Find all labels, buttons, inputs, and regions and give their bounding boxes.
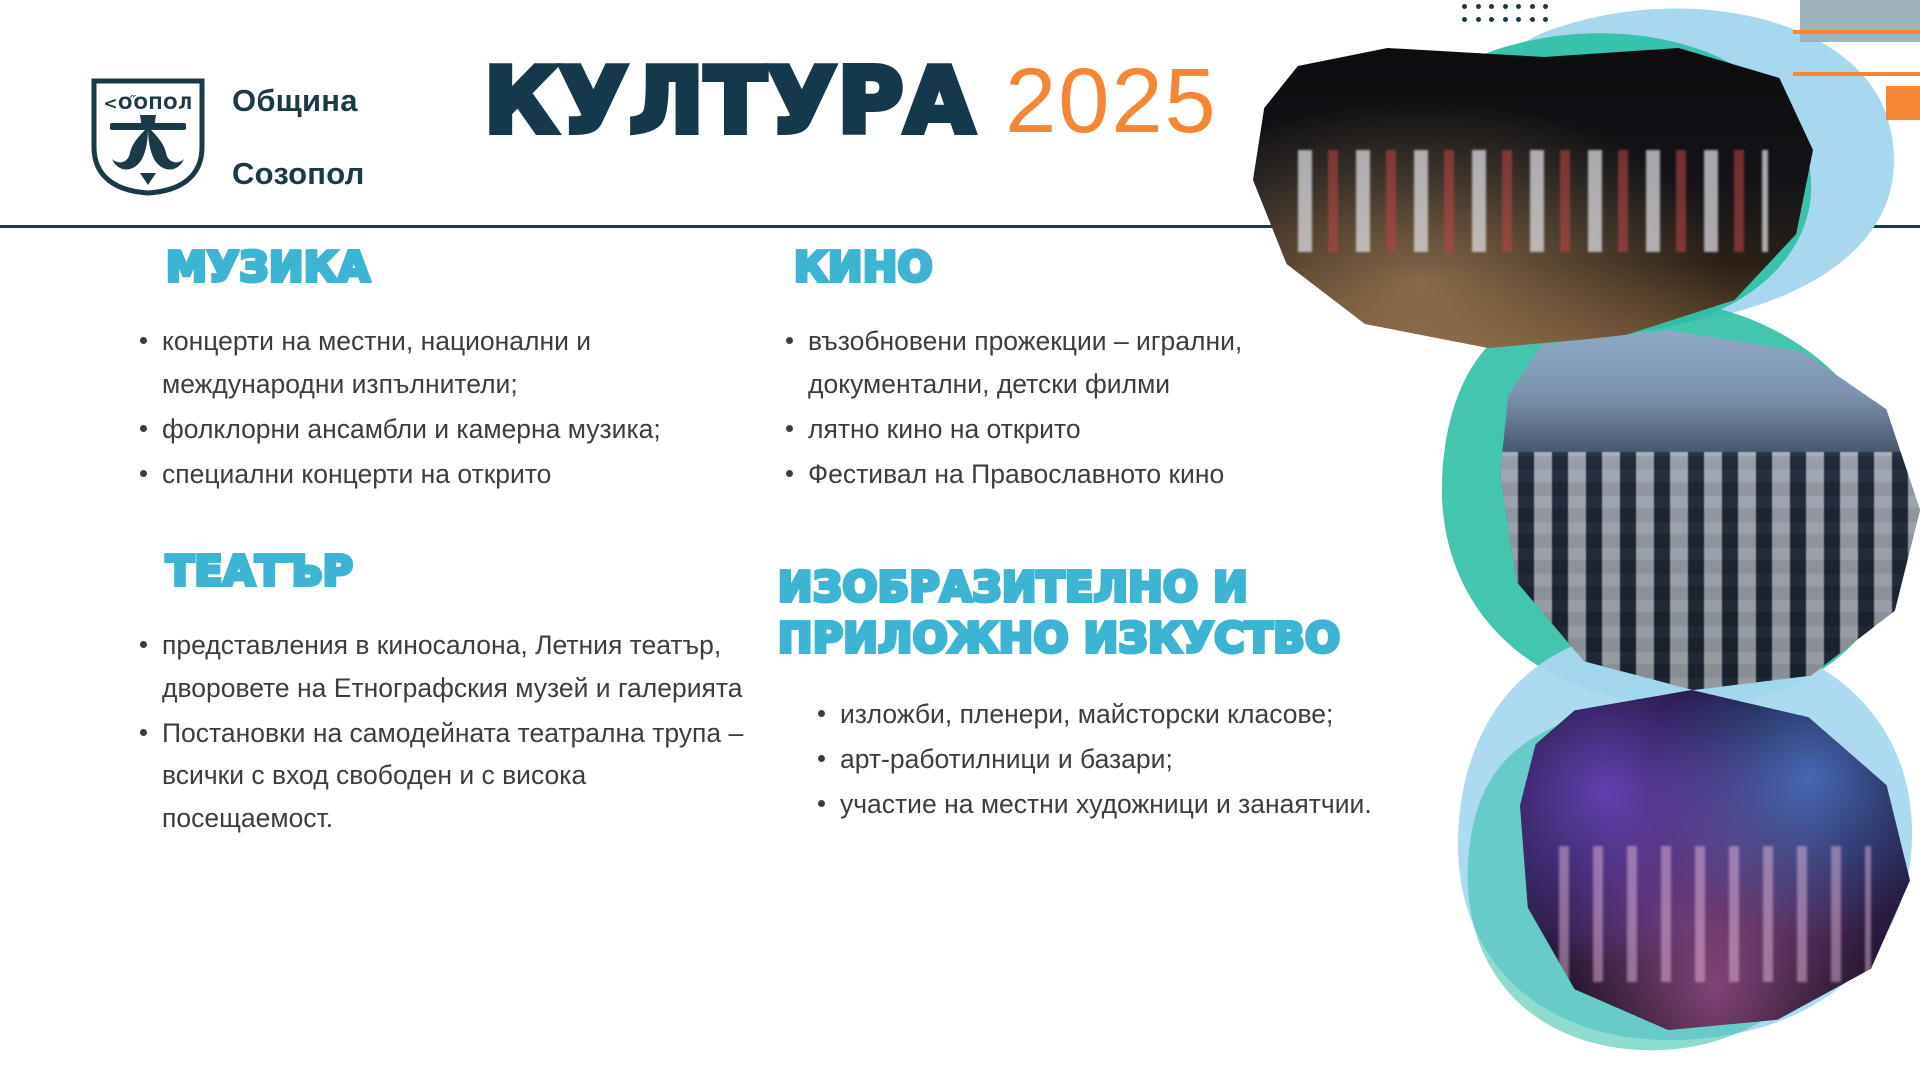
municipality-name: Община Созопол (232, 46, 364, 229)
svg-text:<O֞OПOЛ: <O֞OПOЛ (103, 94, 192, 114)
dot-grid-decoration (1462, 4, 1554, 26)
dot (1462, 4, 1467, 9)
slide-root: <O֞OПOЛ Община Созопол КУЛТУРА 2025 (0, 0, 1920, 1080)
photo-outdoor-audience (1500, 330, 1920, 690)
list-item: фолклорни ансамбли и камерна музика; (132, 408, 752, 451)
list-item: представления в киносалона, Летния театъ… (132, 624, 752, 710)
section-title-theatre: ТЕАТЪР (166, 546, 752, 596)
orange-outline-decoration (1793, 30, 1920, 76)
bullet-list-music: концерти на местни, национални и междуна… (132, 320, 752, 496)
dot (1503, 4, 1508, 9)
page-title: КУЛТУРА 2025 (484, 55, 1218, 147)
list-item: Фестивал на Православното кино (778, 453, 1418, 496)
bullet-list-cinema: възобновени прожекции – игрални, докумен… (778, 320, 1418, 496)
dot (1476, 17, 1481, 22)
dot (1530, 4, 1535, 9)
photo-stage-performance (1520, 690, 1910, 1030)
dot (1503, 17, 1508, 22)
list-item: участие на местни художници и занаятчии. (810, 783, 1418, 826)
content-area: МУЗИКА концерти на местни, национални и … (0, 226, 1440, 1080)
title-main-word: КУЛТУРА (484, 57, 975, 147)
section-title-music: МУЗИКА (166, 242, 752, 292)
sozopol-coat-of-arms-icon: <O֞OПOЛ (84, 77, 212, 197)
list-item: изложби, пленери, майсторски класове; (810, 693, 1418, 736)
dot (1489, 4, 1494, 9)
dot (1476, 4, 1481, 9)
dot (1462, 17, 1467, 22)
bullet-list-theatre: представления в киносалона, Летния театъ… (132, 624, 752, 841)
dot (1543, 4, 1548, 9)
dot (1516, 17, 1521, 22)
list-item: Постановки на самодейната театрална труп… (132, 712, 752, 841)
municipality-line-2: Созопол (232, 156, 364, 193)
section-music: МУЗИКА концерти на местни, национални и … (132, 242, 752, 496)
photo-image (1520, 690, 1910, 1030)
list-item: концерти на местни, национални и междуна… (132, 320, 752, 406)
section-applied-art: ИЗОБРАЗИТЕЛНО И ПРИЛОЖНО ИЗКУСТВО изложб… (778, 562, 1418, 826)
dot (1489, 17, 1494, 22)
municipality-line-1: Община (232, 83, 364, 120)
right-column: КИНО възобновени прожекции – игрални, до… (778, 226, 1418, 836)
title-year: 2025 (1005, 55, 1218, 147)
list-item: арт-работилници и базари; (810, 738, 1418, 781)
list-item: специални концерти на открито (132, 453, 752, 496)
dot (1543, 17, 1548, 22)
logo-block: <O֞OПOЛ Община Созопол (84, 46, 364, 229)
dot (1516, 4, 1521, 9)
dot (1530, 17, 1535, 22)
section-title-applied-art: ИЗОБРАЗИТЕЛНО И ПРИЛОЖНО ИЗКУСТВО (778, 562, 1418, 665)
photo-image (1500, 330, 1920, 690)
list-item: възобновени прожекции – игрални, докумен… (778, 320, 1418, 406)
list-item: лятно кино на открито (778, 408, 1418, 451)
left-column: МУЗИКА концерти на местни, национални и … (132, 226, 752, 850)
bullet-list-applied-art: изложби, пленери, майсторски класове; ар… (810, 693, 1418, 826)
orange-square-decoration (1886, 86, 1920, 120)
section-theatre: ТЕАТЪР представления в киносалона, Летни… (132, 546, 752, 841)
